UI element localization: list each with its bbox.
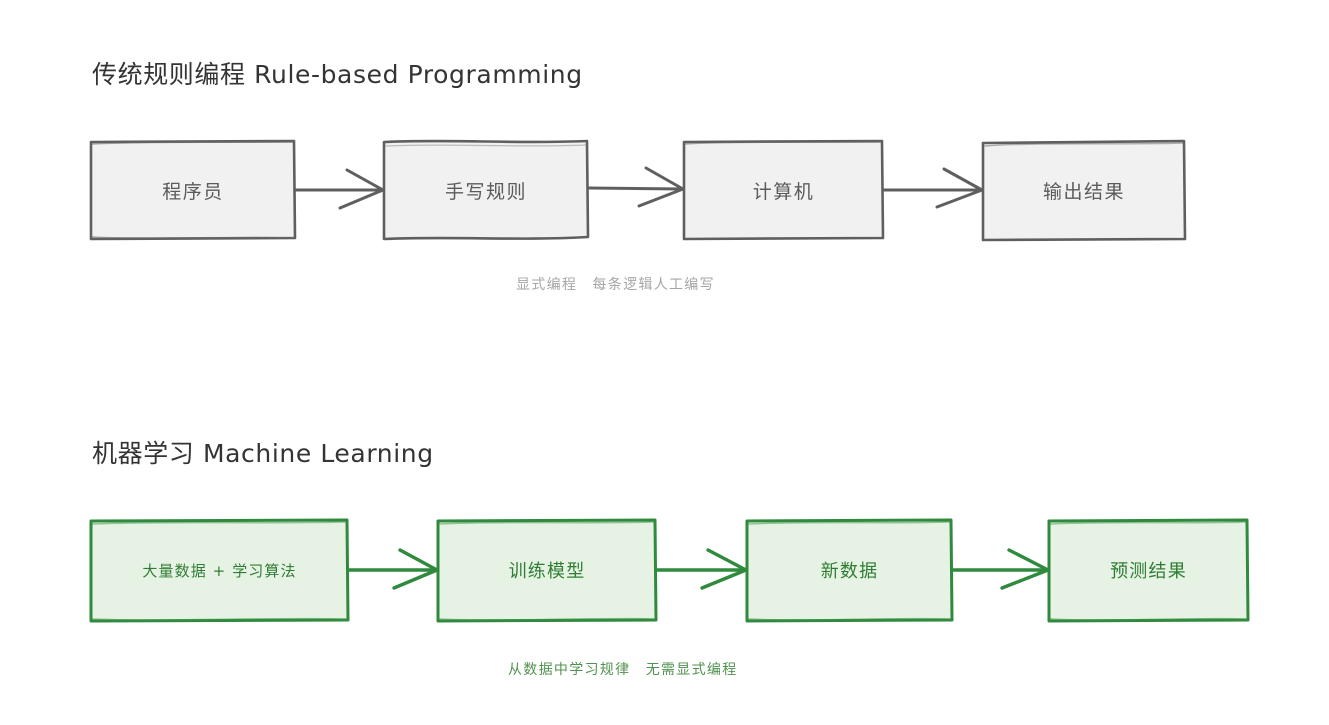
node-label-trained-model: 训练模型: [438, 520, 656, 620]
arrow-data-to-model: [349, 550, 437, 588]
section-title-machine-learning: 机器学习 Machine Learning: [92, 434, 434, 470]
section-title-rule-based: 传统规则编程 Rule-based Programming: [92, 55, 583, 91]
node-label-handwritten-rules: 手写规则: [384, 141, 588, 239]
node-label-prediction-result: 预测结果: [1049, 520, 1248, 620]
diagram-canvas: 传统规则编程 Rule-based Programming 机器学习 Machi…: [0, 0, 1329, 725]
node-label-computer: 计算机: [684, 141, 883, 239]
caption-machine-learning: 从数据中学习规律 无需显式编程: [508, 659, 738, 679]
caption-rule-based: 显式编程 每条逻辑人工编写: [516, 274, 715, 294]
arrow-computer-to-output: [884, 169, 982, 207]
arrow-rules-to-computer: [589, 168, 683, 206]
node-label-programmer: 程序员: [91, 141, 295, 239]
node-label-output-result: 输出结果: [983, 141, 1185, 239]
node-label-new-data: 新数据: [747, 520, 952, 620]
arrow-programmer-to-rules: [296, 170, 383, 208]
arrow-new-data-to-prediction: [953, 550, 1048, 588]
node-label-data-and-algorithm: 大量数据 + 学习算法: [91, 520, 348, 620]
arrow-model-to-new-data: [657, 550, 746, 588]
